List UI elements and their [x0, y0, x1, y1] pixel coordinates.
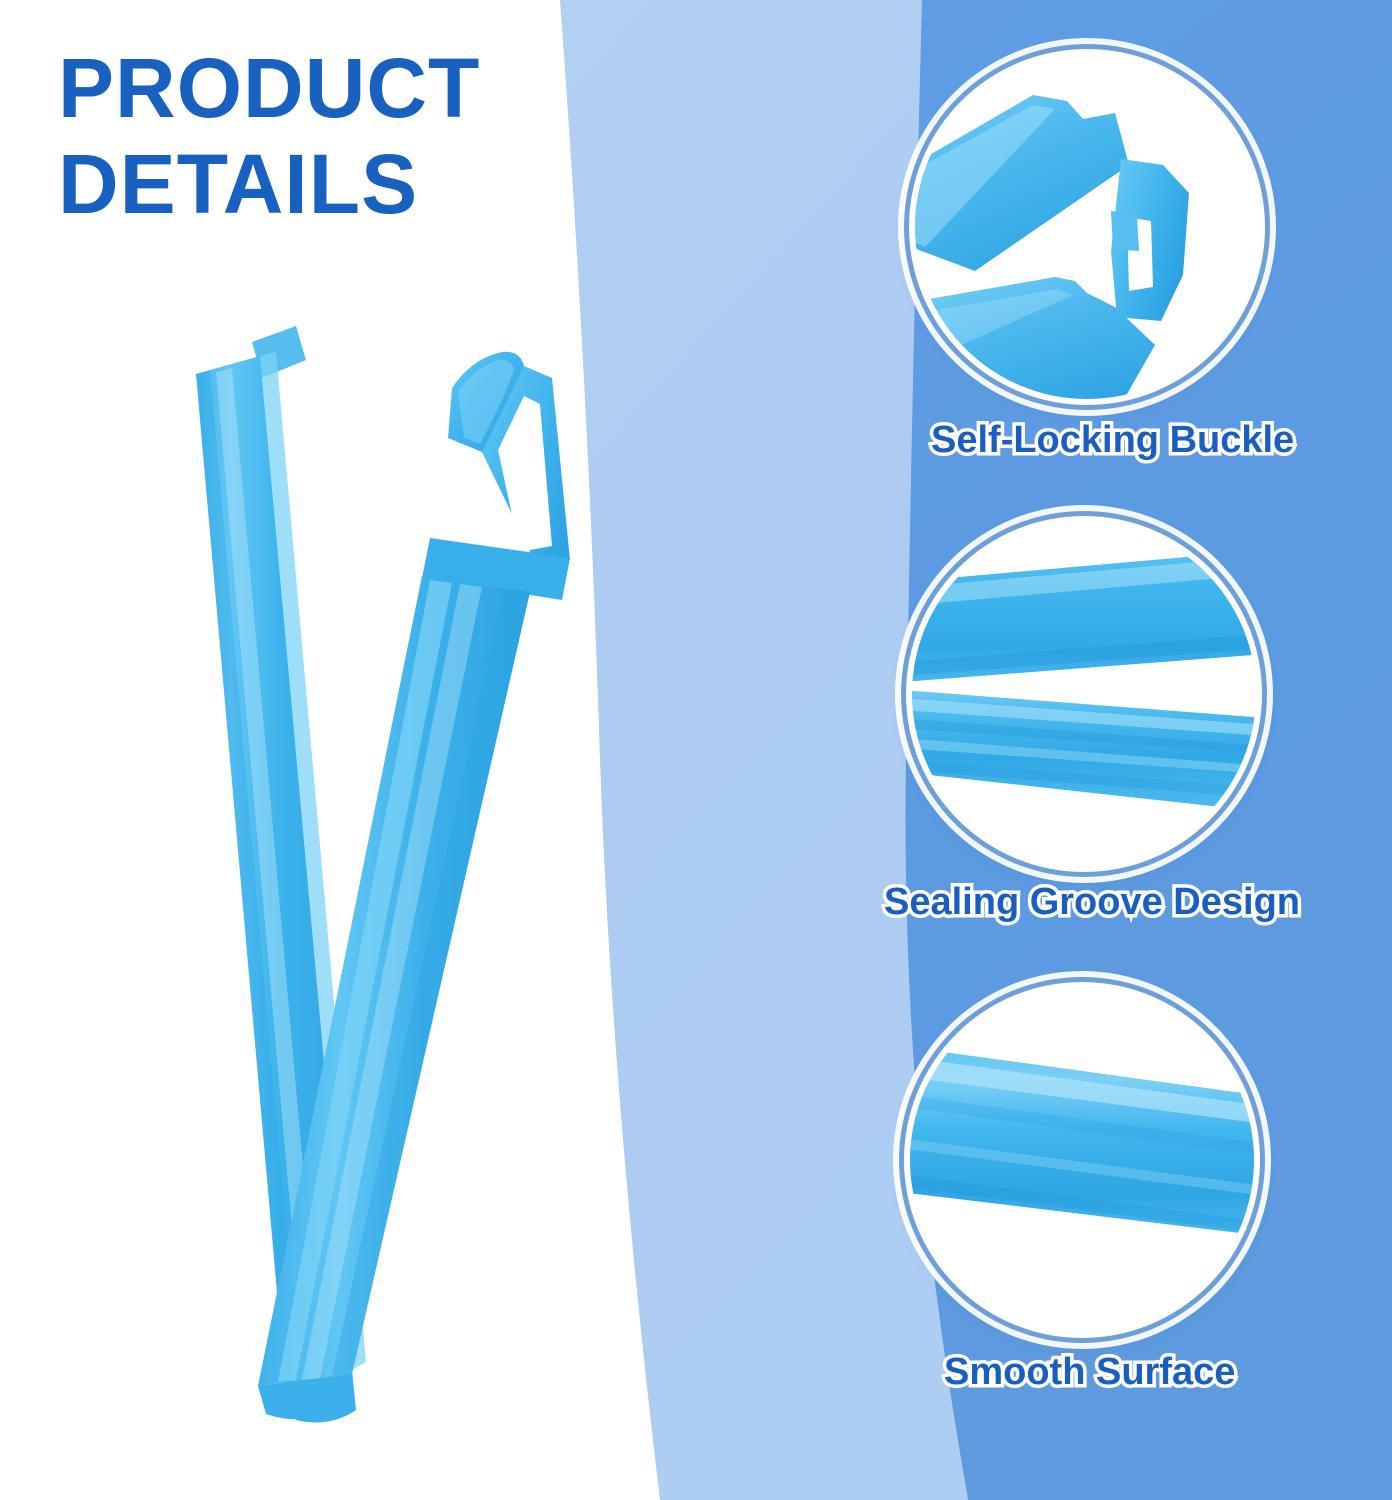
bag-clips-illustration: [100, 300, 740, 1430]
page-title-line-2: DETAILS: [58, 136, 578, 232]
detail-circle-sealing-groove-design: [912, 522, 1256, 866]
product-detail-image: PRODUCT DETAILS: [0, 0, 1392, 1500]
detail-circle-self-locking-buckle: [915, 55, 1259, 399]
inset-1-arm-nub: [1111, 211, 1139, 251]
detail-circle-smooth-surface: [910, 988, 1254, 1332]
page-title-line-1: PRODUCT: [58, 40, 578, 136]
hero-product-photo: [100, 300, 740, 1430]
caption-self-locking-buckle: Self-Locking Buckle: [931, 418, 1294, 462]
caption-sealing-groove-design: Sealing Groove Design: [884, 880, 1300, 924]
inset-self-locking-buckle: [915, 55, 1259, 399]
caption-smooth-surface: Smooth Surface: [944, 1350, 1235, 1394]
page-title: PRODUCT DETAILS: [58, 40, 578, 232]
inset-smooth-surface: [910, 988, 1254, 1332]
inset-sealing-groove-design: [912, 522, 1256, 866]
